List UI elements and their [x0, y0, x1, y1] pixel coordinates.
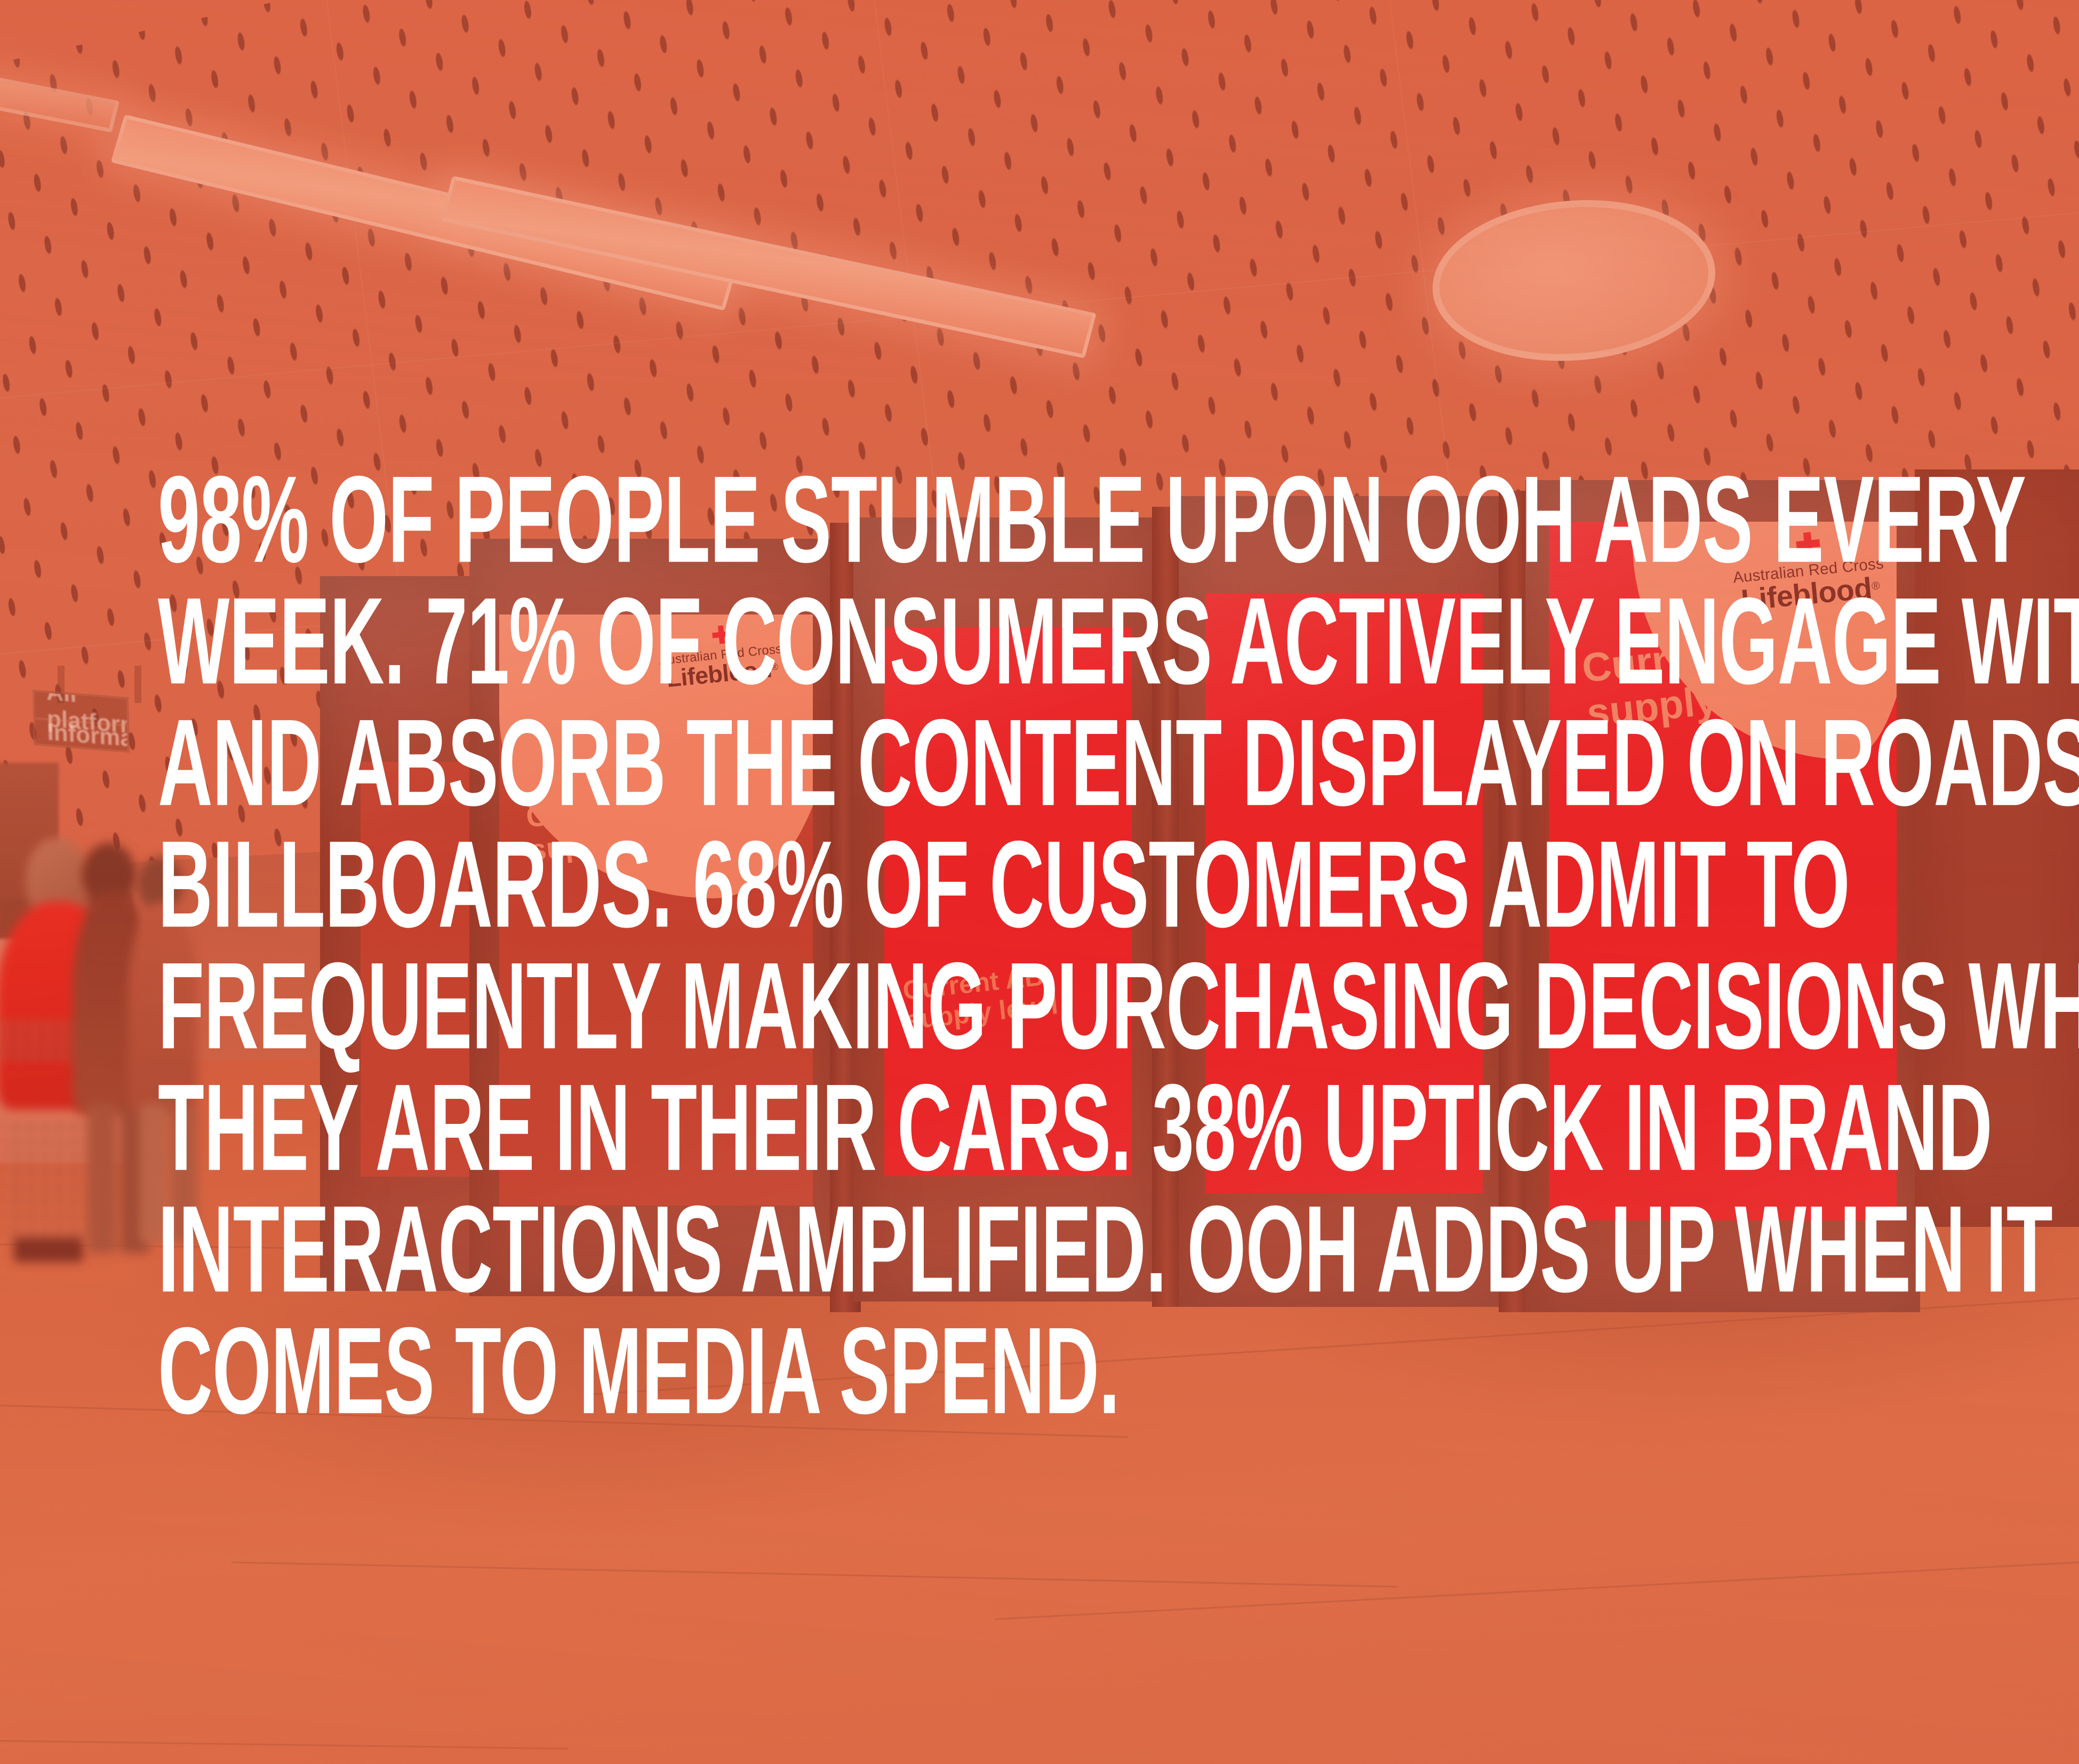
poster-canvas: Australian Red Cross Lifeblood® Current … — [0, 0, 2079, 1764]
wayfinding-sign: All platforms OO← Information OO→ — [33, 690, 130, 753]
headline-text-block: 98% OF PEOPLE STUMBLE UPON OOH ADS EVERY… — [158, 459, 1971, 1432]
sign-support-post-right — [134, 666, 141, 703]
headline-line-8: COMES TO MEDIA SPEND. — [158, 1292, 1609, 1450]
commuter-leg — [87, 1104, 116, 1254]
